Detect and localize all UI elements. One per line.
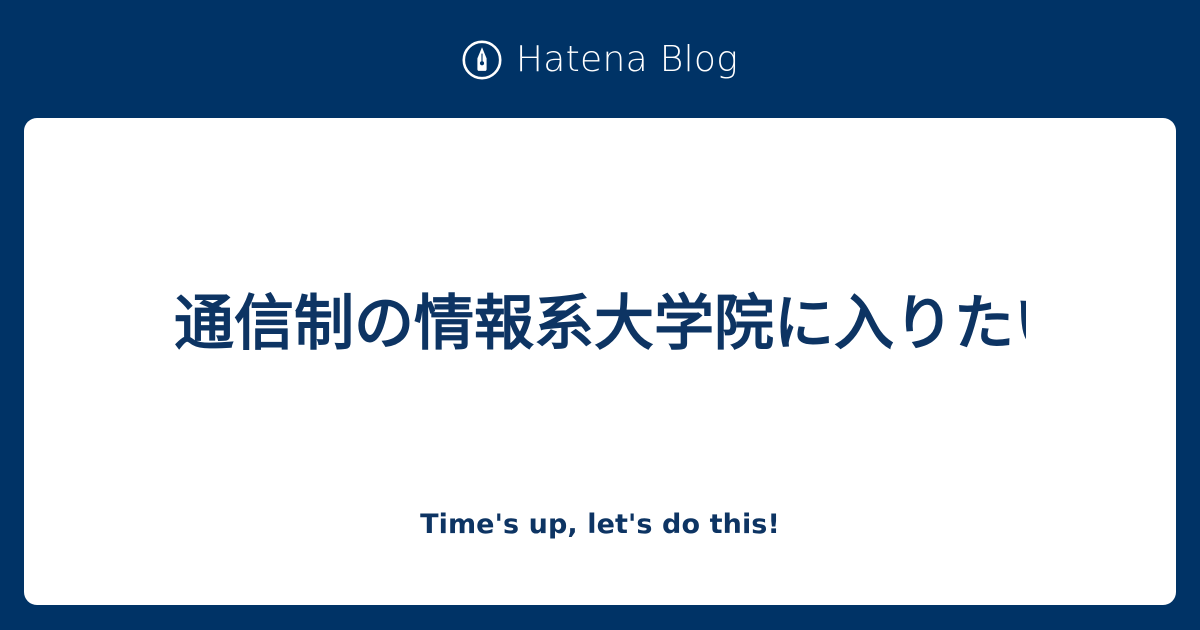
- blog-subtitle: Time's up, let's do this!: [24, 508, 1176, 542]
- brand-name: Hatena Blog: [516, 42, 738, 78]
- og-image-canvas: Hatena Blog 通信制の情報系大学院に入りたい Time's up, l…: [0, 0, 1200, 630]
- hatena-pen-nib-icon: [462, 40, 502, 80]
- brand-header: Hatena Blog: [0, 0, 1200, 118]
- entry-card: 通信制の情報系大学院に入りたい Time's up, let's do this…: [24, 118, 1176, 605]
- entry-title: 通信制の情報系大学院に入りたい: [174, 286, 1026, 362]
